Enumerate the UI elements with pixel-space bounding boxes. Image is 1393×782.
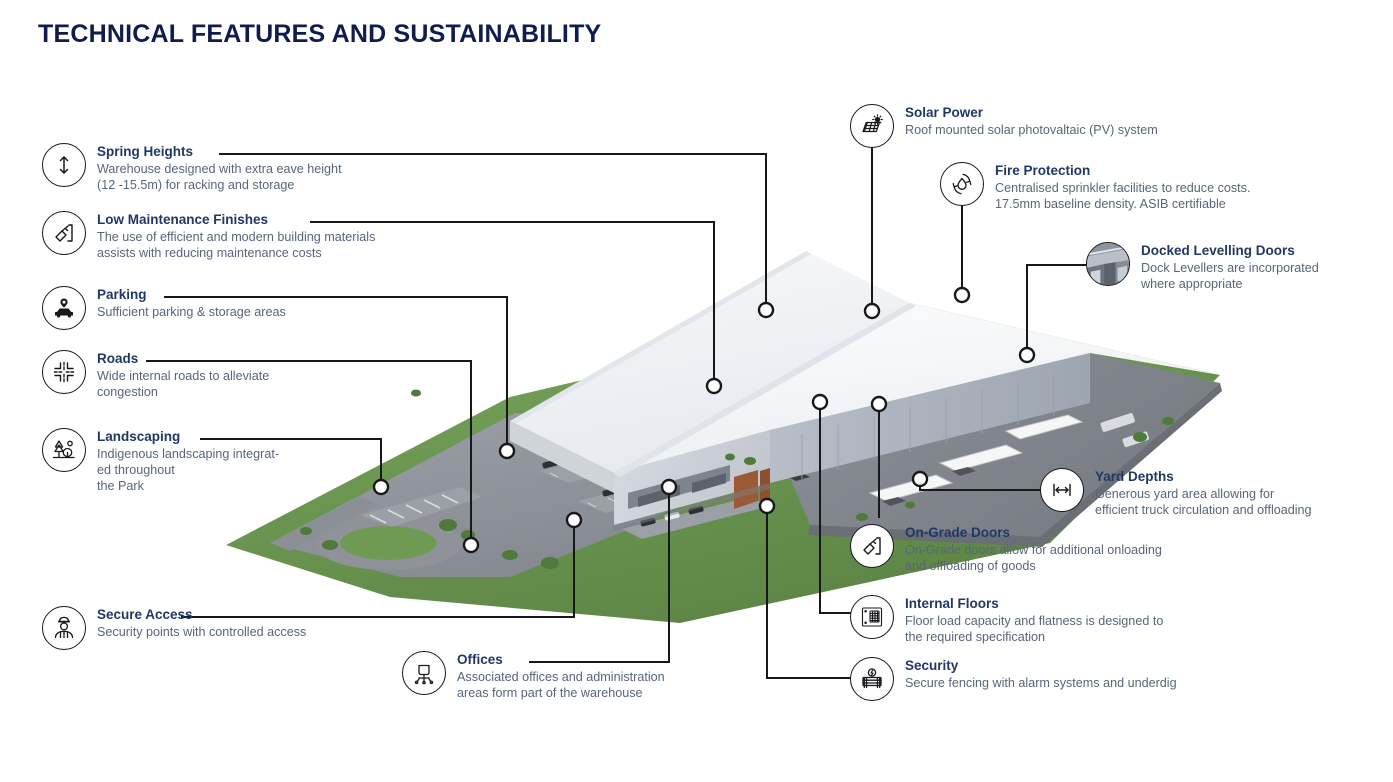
trowel-wall-icon — [850, 524, 894, 568]
floor-slab-icon — [850, 595, 894, 639]
callout-heading: Landscaping — [97, 429, 279, 445]
callout-body: Dock Levellers are incorporated where ap… — [1141, 260, 1319, 293]
callout-text: Offices Associated offices and administr… — [457, 651, 665, 701]
trowel-wall-icon — [42, 211, 86, 255]
callout-heading: Security — [905, 658, 1177, 674]
solar-panel-icon — [850, 104, 894, 148]
callout-body: Generous yard area allowing for efficien… — [1095, 486, 1312, 519]
callout-body: Warehouse designed with extra eave heigh… — [97, 161, 342, 194]
callout-body: Floor load capacity and flatness is desi… — [905, 613, 1163, 646]
callout-security[interactable]: Security Secure fencing with alarm syste… — [850, 657, 1177, 701]
callout-text: Solar Power Roof mounted solar photovalt… — [905, 104, 1158, 138]
callout-heading: Roads — [97, 351, 269, 367]
car-parking-pin-icon — [42, 286, 86, 330]
callout-text: Secure Access Security points with contr… — [97, 606, 306, 640]
callout-heading: Fire Protection — [995, 163, 1250, 179]
callout-solar-power[interactable]: Solar Power Roof mounted solar photovalt… — [850, 104, 1158, 148]
callout-secure-access[interactable]: Secure Access Security points with contr… — [42, 606, 306, 650]
callout-heading: Spring Heights — [97, 144, 342, 160]
crossroads-icon — [42, 350, 86, 394]
callout-text: Security Secure fencing with alarm syste… — [905, 657, 1177, 691]
callout-docked-levelling-doors[interactable]: Docked Levelling Doors Dock Levellers ar… — [1086, 242, 1319, 292]
callout-heading: Docked Levelling Doors — [1141, 243, 1319, 259]
callout-low-maintenance-finishes[interactable]: Low Maintenance Finishes The use of effi… — [42, 211, 375, 261]
callout-heading: Yard Depths — [1095, 469, 1312, 485]
callout-landscaping[interactable]: Landscaping Indigenous landscaping integ… — [42, 428, 279, 495]
callout-heading: Offices — [457, 652, 665, 668]
callout-parking[interactable]: Parking Sufficient parking & storage are… — [42, 286, 286, 330]
callout-heading: Secure Access — [97, 607, 306, 623]
callout-body: Wide internal roads to alleviate congest… — [97, 368, 269, 401]
callout-body: Secure fencing with alarm systems and un… — [905, 675, 1177, 691]
callout-body: Indigenous landscaping integrat- ed thro… — [97, 446, 279, 495]
callout-spring-heights[interactable]: Spring Heights Warehouse designed with e… — [42, 143, 342, 193]
callout-text: Docked Levelling Doors Dock Levellers ar… — [1141, 242, 1319, 292]
callout-text: Landscaping Indigenous landscaping integ… — [97, 428, 279, 495]
dock-leveller-photo-icon — [1086, 242, 1130, 286]
security-guard-icon — [42, 606, 86, 650]
callout-text: On-Grade Doors On-Grade doors allow for … — [905, 524, 1162, 574]
callout-text: Yard Depths Generous yard area allowing … — [1095, 468, 1312, 518]
height-arrow-icon — [42, 143, 86, 187]
infographic-canvas: TECHNICAL FEATURES AND SUSTAINABILITY — [0, 0, 1393, 782]
callout-body: The use of efficient and modern building… — [97, 229, 375, 262]
width-measure-icon — [1040, 468, 1084, 512]
callout-body: On-Grade doors allow for additional onlo… — [905, 542, 1162, 575]
water-droplet-cycle-icon — [940, 162, 984, 206]
callout-yard-depths[interactable]: Yard Depths Generous yard area allowing … — [1040, 468, 1312, 518]
callout-on-grade-doors[interactable]: On-Grade Doors On-Grade doors allow for … — [850, 524, 1162, 574]
callout-roads[interactable]: Roads Wide internal roads to alleviate c… — [42, 350, 269, 400]
page-title: TECHNICAL FEATURES AND SUSTAINABILITY — [38, 20, 601, 49]
callout-body: Sufficient parking & storage areas — [97, 304, 286, 320]
callout-text: Fire Protection Centralised sprinkler fa… — [995, 162, 1250, 212]
alarm-fence-icon — [850, 657, 894, 701]
callout-heading: On-Grade Doors — [905, 525, 1162, 541]
callout-body: Security points with controlled access — [97, 624, 306, 640]
callout-text: Roads Wide internal roads to alleviate c… — [97, 350, 269, 400]
trees-icon — [42, 428, 86, 472]
callout-heading: Low Maintenance Finishes — [97, 212, 375, 228]
office-chair-icon — [402, 651, 446, 695]
callout-text: Internal Floors Floor load capacity and … — [905, 595, 1163, 645]
callout-body: Associated offices and administration ar… — [457, 669, 665, 702]
callout-fire-protection[interactable]: Fire Protection Centralised sprinkler fa… — [940, 162, 1250, 212]
callout-text: Low Maintenance Finishes The use of effi… — [97, 211, 375, 261]
callout-heading: Parking — [97, 287, 286, 303]
callout-heading: Solar Power — [905, 105, 1158, 121]
callout-offices[interactable]: Offices Associated offices and administr… — [402, 651, 665, 701]
callout-text: Parking Sufficient parking & storage are… — [97, 286, 286, 320]
callout-internal-floors[interactable]: Internal Floors Floor load capacity and … — [850, 595, 1163, 645]
callout-text: Spring Heights Warehouse designed with e… — [97, 143, 342, 193]
callout-body: Roof mounted solar photovaltaic (PV) sys… — [905, 122, 1158, 138]
callout-heading: Internal Floors — [905, 596, 1163, 612]
callout-body: Centralised sprinkler facilities to redu… — [995, 180, 1250, 213]
